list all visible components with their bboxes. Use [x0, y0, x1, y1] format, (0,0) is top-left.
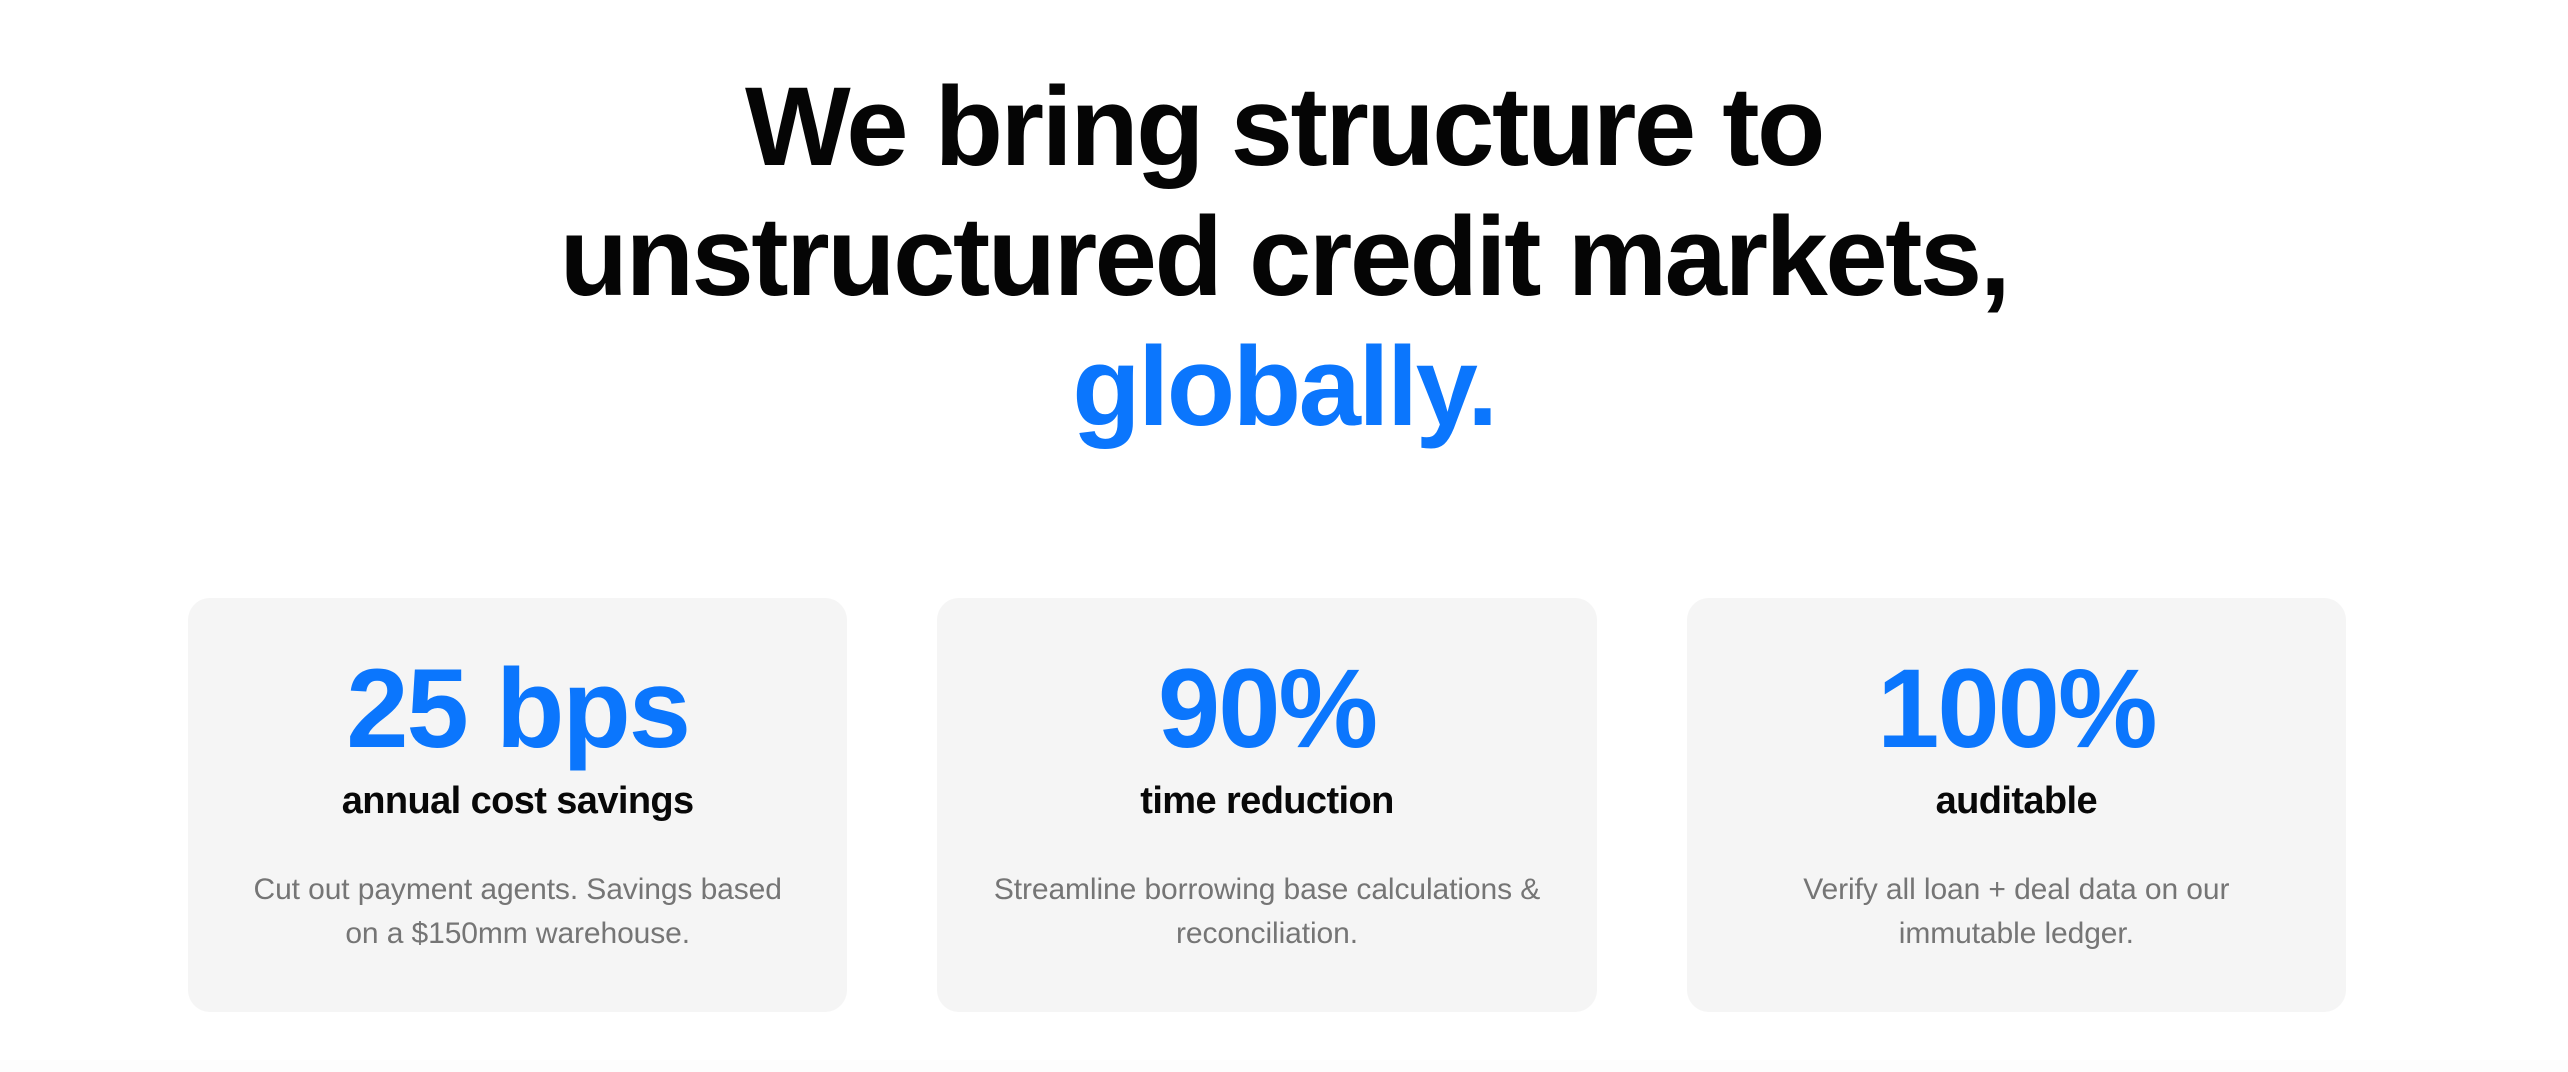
headline-line-2: unstructured credit markets,	[0, 192, 2568, 322]
marketing-stats-section: We bring structure to unstructured credi…	[0, 0, 2568, 1072]
stat-card-auditable: 100% auditable Verify all loan + deal da…	[1687, 598, 2346, 1012]
bottom-divider-band	[0, 1060, 2568, 1072]
stat-card-time-reduction: 90% time reduction Streamline borrowing …	[937, 598, 1596, 1012]
stat-description: Cut out payment agents. Savings based on…	[238, 868, 798, 956]
page-headline: We bring structure to unstructured credi…	[0, 62, 2568, 452]
stat-description: Streamline borrowing base calculations &…	[987, 868, 1547, 956]
stat-label: annual cost savings	[342, 778, 694, 824]
stat-value: 100%	[1877, 650, 2155, 768]
headline-line-1: We bring structure to	[0, 62, 2568, 192]
stat-description: Verify all loan + deal data on our immut…	[1736, 868, 2296, 956]
stat-label: time reduction	[1140, 778, 1393, 824]
stat-value: 25 bps	[346, 650, 689, 768]
stat-card-annual-cost-savings: 25 bps annual cost savings Cut out payme…	[188, 598, 847, 1012]
stat-value: 90%	[1158, 650, 1376, 768]
stat-card-list: 25 bps annual cost savings Cut out payme…	[188, 598, 2346, 1012]
headline-line-3-accent: globally.	[0, 322, 2568, 452]
stat-label: auditable	[1936, 778, 2097, 824]
